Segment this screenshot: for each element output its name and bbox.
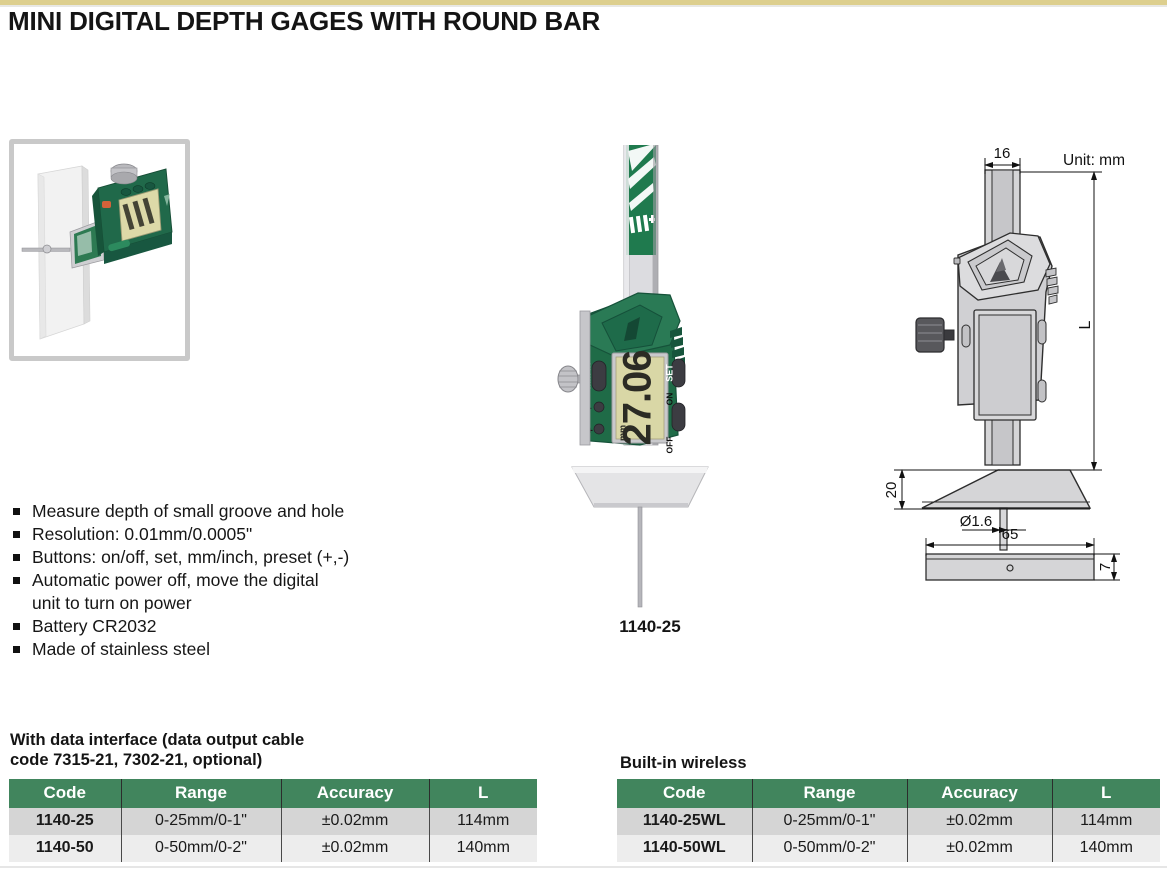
technical-drawing: 16 L — [880, 140, 1167, 600]
inset-product-photo-frame — [9, 139, 190, 361]
on-off-button — [672, 403, 685, 431]
table-row: 1140-25 0-25mm/0-1" ±0.02mm 114mm — [9, 808, 537, 835]
svg-text:ON: ON — [664, 393, 674, 406]
inset-product-photo — [14, 144, 185, 356]
list-item: Made of stainless steel — [10, 638, 430, 661]
cell-l: 140mm — [1052, 835, 1160, 862]
list-item: Automatic power off, move the digital — [10, 569, 430, 592]
list-item-continuation: unit to turn on power — [10, 592, 430, 615]
list-item: Measure depth of small groove and hole — [10, 500, 430, 523]
column-header-range: Range — [752, 779, 907, 808]
lcd-unit: mm — [617, 425, 627, 441]
cell-code: 1140-25 — [9, 808, 121, 835]
cell-l: 114mm — [429, 808, 537, 835]
spec-table-data-interface: Code Range Accuracy L 1140-25 0-25mm/0-1… — [9, 779, 537, 862]
table-row: 1140-25WL 0-25mm/0-1" ±0.02mm 114mm — [617, 808, 1160, 835]
measuring-rod — [638, 507, 642, 607]
catalog-page: MINI DIGITAL DEPTH GAGES WITH ROUND BAR — [0, 0, 1167, 872]
product-photo: 27.06 mm mm in - + SET — [520, 145, 780, 615]
table-title-data-interface: With data interface (data output cable c… — [10, 730, 410, 770]
dimension-7: 7 — [1097, 563, 1114, 571]
table-header-row: Code Range Accuracy L — [617, 779, 1160, 808]
dimension-20: 20 — [883, 482, 900, 499]
minus-button — [594, 402, 604, 412]
cell-accuracy: ±0.02mm — [281, 808, 429, 835]
column-header-accuracy: Accuracy — [281, 779, 429, 808]
table-header-row: Code Range Accuracy L — [9, 779, 537, 808]
list-item: Buttons: on/off, set, mm/inch, preset (+… — [10, 546, 430, 569]
clamp-wheel-drawing — [916, 318, 954, 352]
cell-range: 0-25mm/0-1" — [121, 808, 281, 835]
table-row: 1140-50WL 0-50mm/0-2" ±0.02mm 140mm — [617, 835, 1160, 862]
list-item: Battery CR2032 — [10, 615, 430, 638]
column-header-l: L — [429, 779, 537, 808]
cell-range: 0-50mm/0-2" — [121, 835, 281, 862]
dimension-16: 16 — [994, 145, 1011, 162]
column-header-accuracy: Accuracy — [907, 779, 1052, 808]
column-header-l: L — [1052, 779, 1160, 808]
table-title-line: code 7315-21, 7302-21, optional) — [10, 750, 410, 770]
svg-text:SET: SET — [664, 364, 674, 382]
dimension-L: L — [1077, 320, 1094, 329]
cell-range: 0-50mm/0-2" — [752, 835, 907, 862]
spec-table-built-in-wireless: Code Range Accuracy L 1140-25WL 0-25mm/0… — [617, 779, 1160, 862]
product-photo-caption: 1140-25 — [520, 617, 780, 637]
dimension-rod-diameter: Ø1.6 — [960, 513, 993, 530]
cell-accuracy: ±0.02mm — [907, 835, 1052, 862]
page-title: MINI DIGITAL DEPTH GAGES WITH ROUND BAR — [8, 6, 600, 37]
dimension-65: 65 — [1002, 526, 1019, 543]
bottom-rule — [0, 866, 1167, 868]
svg-text:OFF: OFF — [664, 437, 674, 454]
feature-list: Measure depth of small groove and hole R… — [10, 500, 430, 661]
list-item: Resolution: 0.01mm/0.0005" — [10, 523, 430, 546]
table-row: 1140-50 0-50mm/0-2" ±0.02mm 140mm — [9, 835, 537, 862]
column-header-range: Range — [121, 779, 281, 808]
cell-accuracy: ±0.02mm — [281, 835, 429, 862]
column-header-code: Code — [617, 779, 752, 808]
cell-code: 1140-50 — [9, 835, 121, 862]
table-title-line: With data interface (data output cable — [10, 730, 410, 750]
cell-code: 1140-25WL — [617, 808, 752, 835]
cell-accuracy: ±0.02mm — [907, 808, 1052, 835]
cell-range: 0-25mm/0-1" — [752, 808, 907, 835]
cell-l: 140mm — [429, 835, 537, 862]
table-title-built-in-wireless: Built-in wireless — [620, 753, 1020, 773]
plus-button — [594, 424, 604, 434]
cell-l: 114mm — [1052, 808, 1160, 835]
table-title-line: Built-in wireless — [620, 753, 1020, 773]
cell-code: 1140-50WL — [617, 835, 752, 862]
column-header-code: Code — [9, 779, 121, 808]
mm-in-button — [592, 361, 606, 391]
